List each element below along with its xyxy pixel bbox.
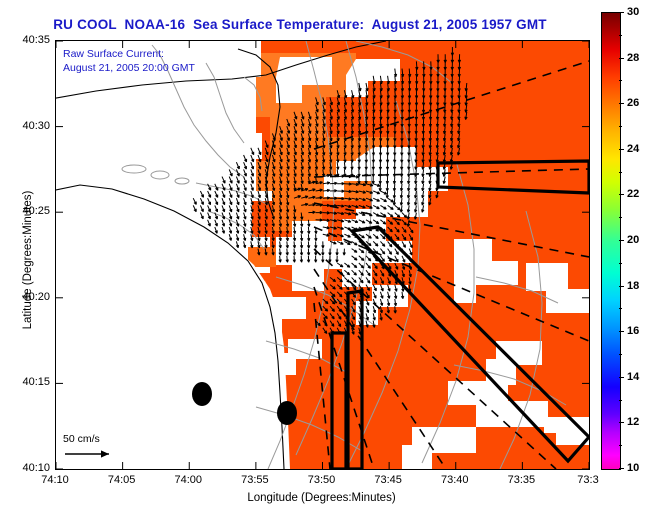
vector-scale-key: 50 cm/s (63, 433, 119, 464)
vector-scale-label: 50 cm/s (63, 433, 119, 445)
colorbar-tick (619, 149, 624, 150)
colorbar-minor-tick (619, 400, 622, 401)
x-tick-label: 74:05 (108, 474, 136, 486)
colorbar-tick-label: 10 (627, 462, 639, 474)
colorbar-tick-label: 20 (627, 234, 639, 246)
colorbar-tick (619, 286, 624, 287)
x-tick-label: 74:00 (174, 474, 202, 486)
colorbar-tick (619, 331, 624, 332)
map-plot-area[interactable]: Raw Surface Current: August 21, 2005 20:… (55, 40, 590, 470)
colorbar-tick-label: 16 (627, 325, 639, 337)
colorbar-tick (619, 12, 624, 13)
right-arrow-icon (63, 447, 119, 461)
station-marker-east[interactable] (277, 401, 297, 425)
colorbar-tick (619, 194, 624, 195)
x-tick-label: 73:40 (441, 474, 469, 486)
station-marker-west[interactable] (192, 382, 212, 406)
x-tick-label: 73:35 (508, 474, 536, 486)
colorbar-tick-label: 22 (627, 188, 639, 200)
colorbar-minor-tick (619, 35, 622, 36)
colorbar-tick (619, 240, 624, 241)
colorbar-tick (619, 58, 624, 59)
x-tick-label: 73:3 (577, 474, 598, 486)
x-tick-label: 73:55 (241, 474, 269, 486)
map-canvas (56, 41, 589, 469)
y-tick-label: 40:10 (0, 462, 50, 474)
colorbar-tick-label: 28 (627, 52, 639, 64)
colorbar-tick (619, 422, 624, 423)
x-tick-label: 73:45 (374, 474, 402, 486)
colorbar-minor-tick (619, 308, 622, 309)
sst-map-figure: RU COOL NOAA-16 Sea Surface Temperature:… (0, 0, 651, 518)
x-tick-label: 74:10 (41, 474, 69, 486)
colorbar-tick-label: 30 (627, 6, 639, 18)
current-annotation: Raw Surface Current: August 21, 2005 20:… (63, 47, 195, 75)
colorbar-minor-tick (619, 354, 622, 355)
temperature-colorbar[interactable] (601, 12, 621, 470)
colorbar-tick-label: 12 (627, 416, 639, 428)
figure-title: RU COOL NOAA-16 Sea Surface Temperature:… (0, 17, 600, 32)
current-annotation-line2: August 21, 2005 20:00 GMT (63, 61, 195, 75)
colorbar-minor-tick (619, 172, 622, 173)
colorbar-tick (619, 103, 624, 104)
y-tick-label: 40:35 (0, 34, 50, 46)
x-tick-label: 73:50 (308, 474, 336, 486)
colorbar-tick (619, 377, 624, 378)
colorbar-minor-tick (619, 263, 622, 264)
x-axis-title: Longitude (Degrees:Minutes) (55, 492, 588, 504)
colorbar-minor-tick (619, 80, 622, 81)
colorbar-minor-tick (619, 217, 622, 218)
y-axis-title: Latitude (Degrees:Minutes) (22, 140, 34, 380)
colorbar-tick (619, 468, 624, 469)
colorbar-minor-tick (619, 445, 622, 446)
colorbar-tick-label: 14 (627, 371, 639, 383)
colorbar-tick-label: 24 (627, 143, 639, 155)
colorbar-tick-label: 18 (627, 280, 639, 292)
current-annotation-line1: Raw Surface Current: (63, 47, 195, 61)
colorbar-tick-label: 26 (627, 97, 639, 109)
y-tick-label: 40:30 (0, 120, 50, 132)
colorbar-minor-tick (619, 126, 622, 127)
